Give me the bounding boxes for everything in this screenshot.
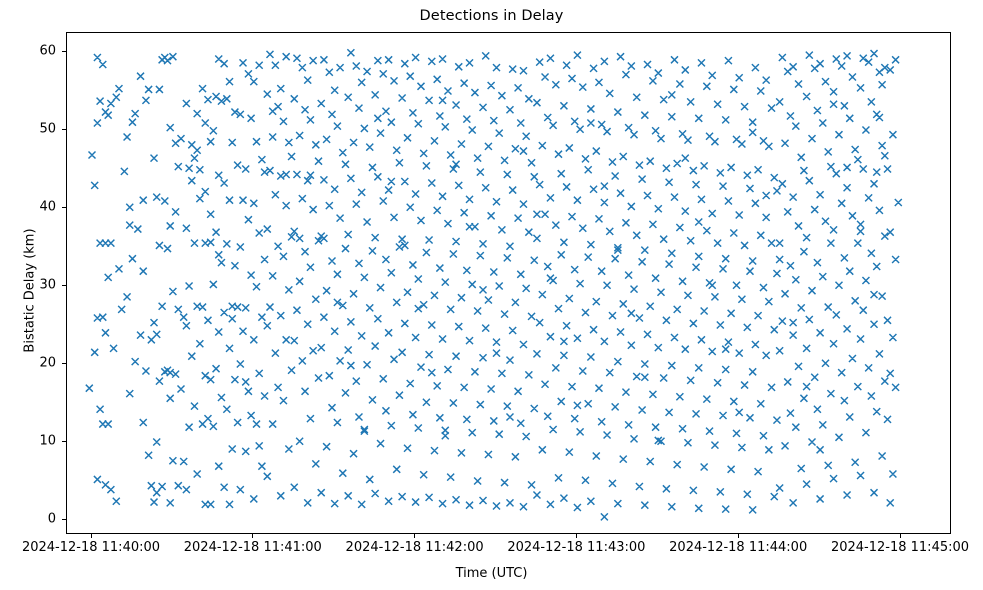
- y-tick-label: 0: [8, 512, 56, 527]
- y-tick-label: 40: [8, 200, 56, 215]
- x-tick-mark: [900, 534, 901, 538]
- x-tick-mark: [91, 534, 92, 538]
- x-tick-label: 2024-12-18 11:41:00: [184, 540, 322, 555]
- x-tick-label: 2024-12-18 11:42:00: [346, 540, 484, 555]
- chart-figure: Detections in Delay Bistatic Delay (km) …: [0, 0, 983, 590]
- x-tick-label: 2024-12-18 11:43:00: [507, 540, 645, 555]
- x-tick-mark: [252, 534, 253, 538]
- x-tick-mark: [738, 534, 739, 538]
- x-tick-mark: [576, 534, 577, 538]
- scatter-markers: [67, 33, 951, 534]
- y-tick-label: 10: [8, 434, 56, 449]
- plot-area: [66, 32, 951, 534]
- x-tick-label: 2024-12-18 11:45:00: [831, 540, 969, 555]
- y-tick-label: 60: [8, 44, 56, 59]
- x-tick-label: 2024-12-18 11:40:00: [22, 540, 160, 555]
- chart-title: Detections in Delay: [0, 8, 983, 24]
- y-tick-label: 20: [8, 356, 56, 371]
- y-tick-label: 50: [8, 122, 56, 137]
- y-tick-label: 30: [8, 278, 56, 293]
- x-axis-label: Time (UTC): [0, 566, 983, 581]
- x-tick-mark: [414, 534, 415, 538]
- x-tick-label: 2024-12-18 11:44:00: [669, 540, 807, 555]
